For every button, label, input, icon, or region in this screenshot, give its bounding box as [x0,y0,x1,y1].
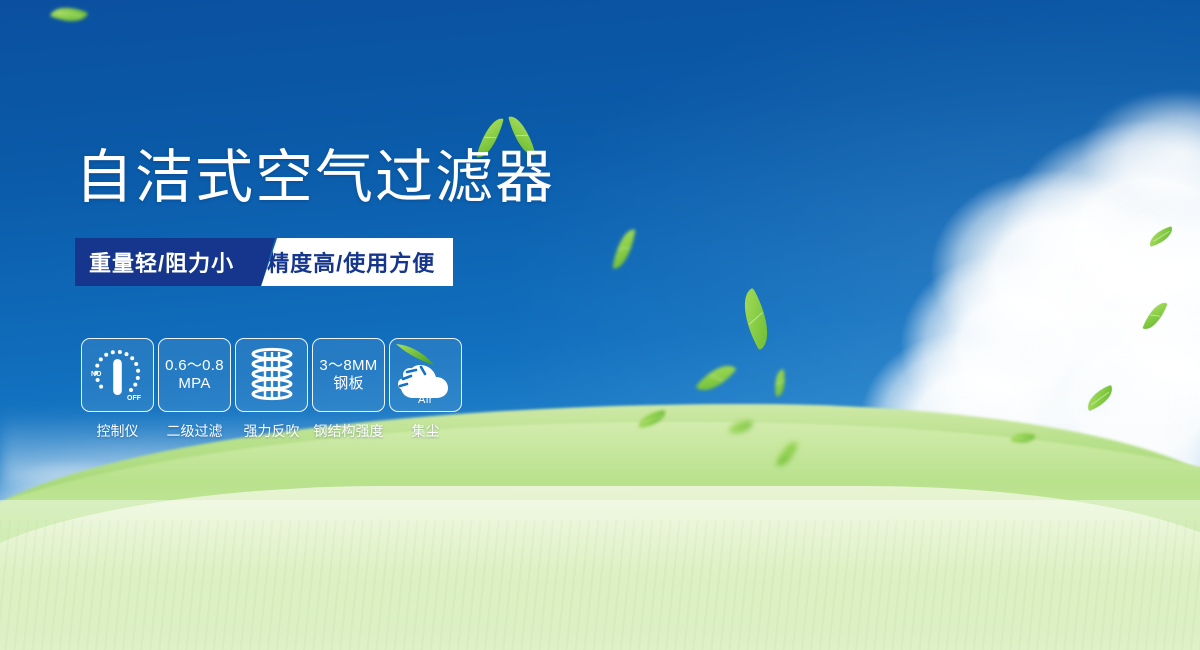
dial-gauge-icon: NO OFF [87,345,149,405]
subtitle-right: 精度高/使用方便 [261,238,453,286]
pressure-line-1: 0.6～0.8 [165,357,224,375]
steel-plate-text-icon: 3～8MM 钢板 [319,357,377,393]
feature-item[interactable]: Air 集尘 [388,338,463,441]
banner-content: 自洁式空气过滤器 重量轻/阻力小 精度高/使用方便 [0,0,1200,650]
svg-text:OFF: OFF [127,395,142,402]
feature-label: 二级过滤 [167,421,223,441]
feature-item[interactable]: 3～8MM 钢板 钢结构强度 [311,338,386,441]
feature-label: 钢结构强度 [314,421,384,441]
svg-text:NO: NO [91,371,102,378]
steel-line-2: 钢板 [319,375,377,393]
pressure-line-2: MPA [165,375,224,393]
feature-label: 控制仪 [97,421,139,441]
feature-item[interactable]: NO OFF 控制仪 [80,338,155,441]
feature-item[interactable]: 强力反吹 [234,338,309,441]
product-banner: 自洁式空气过滤器 重量轻/阻力小 精度高/使用方便 [0,0,1200,650]
feature-icon-box: NO OFF [81,338,154,412]
subtitle-left: 重量轻/阻力小 [75,238,250,286]
feature-icon-box [235,338,308,412]
feature-icon-box: Air [389,338,462,412]
feature-icon-box: 0.6～0.8 MPA [158,338,231,412]
subtitle-bar: 重量轻/阻力小 精度高/使用方便 [75,238,453,286]
feature-list: NO OFF 控制仪 0.6～0.8 MPA 二级过滤 [80,338,463,441]
page-title: 自洁式空气过滤器 [75,146,555,210]
feature-icon-box: 3～8MM 钢板 [312,338,385,412]
pressure-text-icon: 0.6～0.8 MPA [165,357,224,393]
feature-label: 集尘 [412,421,440,441]
feature-label: 强力反吹 [244,421,300,441]
feature-item[interactable]: 0.6～0.8 MPA 二级过滤 [157,338,232,441]
coil-filter-icon [245,345,299,405]
steel-line-1: 3～8MM [319,357,377,375]
air-label: Air [390,394,461,406]
